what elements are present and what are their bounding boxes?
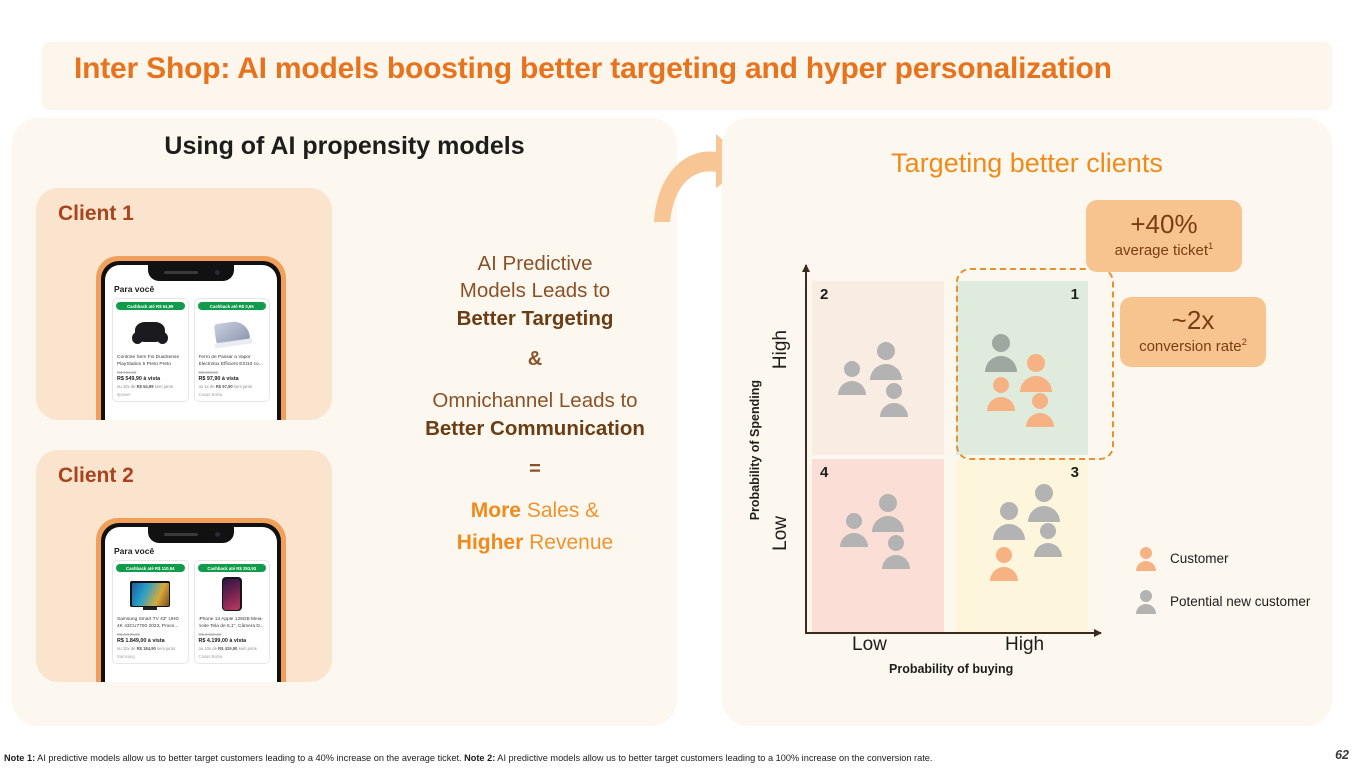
client-1-label: Client 1 [58,202,134,226]
installments-suffix: sem juros [233,384,252,389]
product-old-price: R$ 3.049,00 [117,632,184,637]
product-old-price: R$ 4.699,00 [199,632,266,637]
page-number: 62 [1335,748,1349,762]
phone-bezel: Para você Cashback até R$ 110,94 Samsung… [101,523,281,682]
badge-average-ticket-value: +40% [1130,211,1197,238]
quadrant-4-number: 4 [820,464,828,481]
center-message-block: AI Predictive Models Leads to Better Tar… [390,250,680,558]
left-panel-heading: Using of AI propensity models [12,132,677,161]
badge-conversion-rate: ~2x conversion rate2 [1120,297,1266,367]
phone-screen: Para você Cashback até R$ 110,94 Samsung… [105,527,277,682]
note-2-label: Note 2: [464,753,495,763]
client-card-1: Client 1 Para você Cashback até R$ 54,99 [36,188,332,420]
message-final-2: Higher Revenue [390,529,680,557]
product-card[interactable]: Cashback até R$ 54,99 Controle Sem Fio D… [112,298,189,402]
quadrant-4: 4 [812,459,944,633]
badge-average-ticket-label: average ticket1 [1115,241,1214,261]
speaker-icon [164,533,198,536]
product-name: Ferro de Passar a Vapor Electrolux Effic… [199,355,266,368]
product-store: Casas Bahia [199,654,266,659]
product-store: Itpower [117,392,184,397]
page-title: Inter Shop: AI models boosting better ta… [74,52,1274,86]
product-cards-row-1: Cashback até R$ 54,99 Controle Sem Fio D… [112,298,270,402]
message-final-2-bold: Higher [457,531,524,554]
screen-header-1: Para você [114,284,154,294]
legend-item-potential: Potential new customer [1134,588,1324,614]
product-installments: ou 10x de R$ 419,90 sem juros [199,646,266,651]
quadrant-2: 2 [812,281,944,455]
product-price: R$ 549,90 à vista [117,376,184,382]
message-final-2-rest: Revenue [523,531,613,554]
product-store: Casas Bahia [199,392,266,397]
camera-icon [215,532,220,537]
badge-conversion-rate-label: conversion rate2 [1139,337,1247,357]
installments-value: R$ 419,90 [218,646,237,651]
message-line-2: Models Leads to [390,277,680,304]
message-line-3-bold: Better Targeting [457,307,614,330]
product-image [117,574,184,614]
quadrant-3-number: 3 [1071,464,1079,481]
client-2-label: Client 2 [58,464,134,488]
cashback-badge: Cashback até R$ 293,93 [198,564,267,572]
product-cards-row-2: Cashback até R$ 110,94 Samsung Smart TV … [112,560,270,664]
legend-label-customer: Customer [1170,551,1229,566]
product-name: Samsung Smart TV 43" UHD 4K 43CU7700 202… [117,617,184,630]
product-price: R$ 97,90 à vista [199,376,266,382]
message-final-1-rest: Sales & [521,499,599,522]
product-price: R$ 1.849,00 à vista [117,638,184,644]
product-image [199,312,266,352]
product-image [199,574,266,614]
installments-suffix: sem juros [154,384,173,389]
badge-label-text: average ticket [1115,242,1208,259]
phone-notch [148,265,234,281]
x-tick-high: High [1005,634,1044,656]
operator-equals: = [390,458,680,481]
installments-value: R$ 97,90 [216,384,233,389]
installments-prefix: ou 1x de [199,384,216,389]
badge-conversion-rate-value: ~2x [1172,307,1215,334]
product-store: Samsung [117,654,184,659]
product-name: Controle Sem Fio DualSense PlayStation 5… [117,355,184,368]
product-price: R$ 4.199,00 à vista [199,638,266,644]
installments-suffix: sem juros [237,646,256,651]
cashback-badge: Cashback até R$ 110,94 [116,564,185,572]
slide-root: Inter Shop: AI models boosting better ta… [0,0,1365,768]
potential-customer-person-icon [1134,588,1158,614]
speaker-icon [164,271,198,274]
gamepad-icon [135,322,165,342]
installments-suffix: sem juros [156,646,175,651]
x-axis [805,632,1101,634]
screen-header-2: Para você [114,546,154,556]
footnotes: Note 1: AI predictive models allow us to… [4,753,1284,765]
legend-label-potential: Potential new customer [1170,594,1310,609]
message-line-4: Omnichannel Leads to [390,387,680,414]
product-old-price: R$ 108,00 [199,370,266,375]
camera-icon [215,270,220,275]
product-installments: ou 10x de R$ 54,99 sem juros [117,384,184,389]
customer-person-icon [1134,545,1158,571]
message-line-5-bold: Better Communication [425,417,645,440]
chart-legend: Customer Potential new customer [1134,545,1324,631]
quadrant-4-people [812,459,944,633]
y-axis-title: Probability of Spending [748,380,762,520]
footnote-ref: 2 [1242,337,1247,348]
product-card[interactable]: Cashback até R$ 293,93 iPhone 13 Apple 1… [194,560,271,664]
phone-bezel: Para você Cashback até R$ 54,99 Controle… [101,261,281,420]
installments-value: R$ 54,99 [137,384,154,389]
quadrant-3-people [956,459,1088,633]
y-tick-high: High [770,330,792,369]
quadrant-2-people [812,281,944,455]
operator-and: & [390,348,680,371]
quadrant-2-number: 2 [820,286,828,303]
product-name: iPhone 13 Apple 128GB Meia-noite Tela de… [199,617,266,630]
phone-screen: Para você Cashback até R$ 54,99 Controle… [105,265,277,420]
y-axis [805,265,807,633]
footnote-ref: 1 [1208,241,1213,252]
quadrant-1-highlight [956,268,1114,460]
badge-average-ticket: +40% average ticket1 [1086,200,1242,272]
quadrant-3: 3 [956,459,1088,633]
x-axis-title: Probability of buying [889,662,1013,676]
installments-prefix: ou 10x de [117,646,137,651]
y-tick-low: Low [770,516,792,551]
cashback-badge: Cashback até R$ 54,99 [116,302,185,310]
installments-value: R$ 184,90 [137,646,156,651]
product-installments: ou 1x de R$ 97,90 sem juros [199,384,266,389]
badge-label-text: conversion rate [1139,338,1242,355]
right-panel-heading: Targeting better clients [722,148,1332,179]
product-card[interactable]: Cashback até R$ 110,94 Samsung Smart TV … [112,560,189,664]
phone-mockup-2: Para você Cashback até R$ 110,94 Samsung… [96,518,286,682]
product-card[interactable]: Cashback até R$ 0,65 Ferro de Passar a V… [194,298,271,402]
legend-item-customer: Customer [1134,545,1324,571]
product-old-price: R$ 554,99 [117,370,184,375]
iron-icon [214,320,250,345]
note-1-label: Note 1: [4,753,35,763]
tv-icon [130,581,170,607]
note-1-text: AI predictive models allow us to better … [35,753,464,763]
product-installments: ou 10x de R$ 184,90 sem juros [117,646,184,651]
phone-mockup-1: Para você Cashback até R$ 54,99 Controle… [96,256,286,420]
installments-prefix: ou 10x de [199,646,219,651]
note-2-text: AI predictive models allow us to better … [495,753,932,763]
installments-prefix: ou 10x de [117,384,137,389]
message-line-1: AI Predictive [390,250,680,277]
iphone-icon [222,577,242,611]
phone-notch [148,527,234,543]
client-card-2: Client 2 Para você Cashback até R$ 110,9… [36,450,332,682]
x-tick-low: Low [852,634,887,656]
message-final-1-bold: More [471,499,521,522]
message-final-1: More Sales & [390,497,680,525]
product-image [117,312,184,352]
message-line-5: Better Communication [390,415,680,442]
cashback-badge: Cashback até R$ 0,65 [198,302,267,310]
message-line-3: Better Targeting [390,305,680,332]
